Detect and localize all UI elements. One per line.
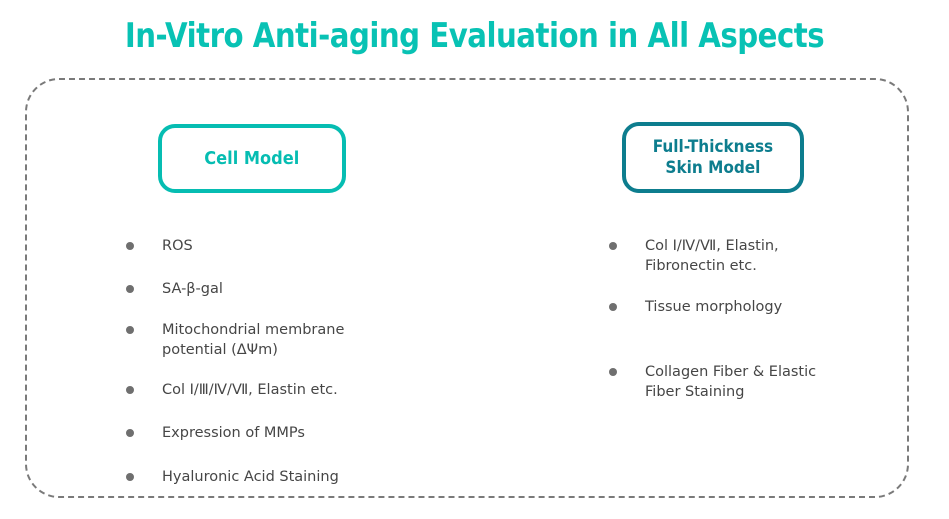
list-item: Col I/Ⅲ/Ⅳ/Ⅶ, Elastin etc. bbox=[126, 380, 416, 400]
list-item: Col I/Ⅳ/Ⅶ, Elastin, Fibronectin etc. bbox=[609, 236, 909, 276]
list-item: Tissue morphology bbox=[609, 297, 909, 317]
page-title: In-Vitro Anti-aging Evaluation in All As… bbox=[66, 18, 882, 55]
list-item-label: Col I/Ⅲ/Ⅳ/Ⅶ, Elastin etc. bbox=[162, 380, 416, 400]
list-item: Mitochondrial membrane potential (ΔΨm) bbox=[126, 320, 416, 360]
bullet-dot-icon bbox=[126, 285, 134, 293]
skin-model-header-box: Full-Thickness Skin Model bbox=[622, 122, 804, 193]
bullet-dot-icon bbox=[126, 473, 134, 481]
cell-model-label: Cell Model bbox=[204, 148, 299, 169]
bullet-dot-icon bbox=[609, 242, 617, 250]
list-item-label: Expression of MMPs bbox=[162, 423, 416, 443]
list-item-label: Hyaluronic Acid Staining bbox=[162, 467, 416, 487]
list-item-label: Col I/Ⅳ/Ⅶ, Elastin, Fibronectin etc. bbox=[645, 236, 909, 276]
skin-model-label: Full-Thickness Skin Model bbox=[653, 137, 773, 177]
skin-model-bullet-list: Col I/Ⅳ/Ⅶ, Elastin, Fibronectin etc.Tiss… bbox=[609, 236, 909, 402]
bullet-dot-icon bbox=[609, 368, 617, 376]
bullet-dot-icon bbox=[609, 303, 617, 311]
list-item-label: Tissue morphology bbox=[645, 297, 909, 317]
cell-model-header-box: Cell Model bbox=[158, 124, 346, 193]
bullet-dot-icon bbox=[126, 429, 134, 437]
bullet-dot-icon bbox=[126, 242, 134, 250]
list-item: ROS bbox=[126, 236, 416, 256]
list-item-label: SA-β-gal bbox=[162, 279, 416, 299]
list-item-label: ROS bbox=[162, 236, 416, 256]
list-item-label: Mitochondrial membrane potential (ΔΨm) bbox=[162, 320, 416, 360]
bullet-dot-icon bbox=[126, 386, 134, 394]
list-item: Hyaluronic Acid Staining bbox=[126, 467, 416, 487]
list-item: Collagen Fiber & Elastic Fiber Staining bbox=[609, 362, 909, 402]
list-item: SA-β-gal bbox=[126, 279, 416, 299]
bullet-dot-icon bbox=[126, 326, 134, 334]
list-item-label: Collagen Fiber & Elastic Fiber Staining bbox=[645, 362, 909, 402]
cell-model-bullet-list: ROSSA-β-galMitochondrial membrane potent… bbox=[126, 236, 416, 487]
list-item: Expression of MMPs bbox=[126, 423, 416, 443]
